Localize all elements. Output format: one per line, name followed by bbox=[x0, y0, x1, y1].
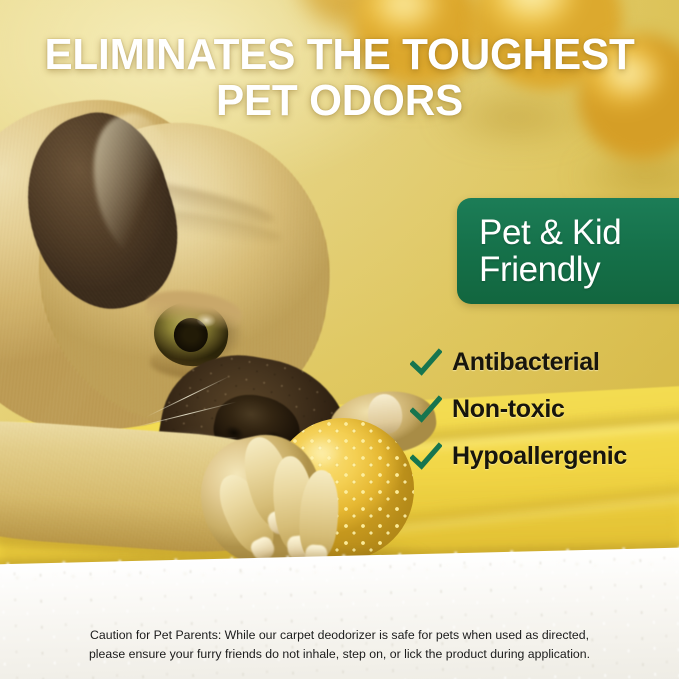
headline: ELIMINATES THE TOUGHEST PET ODORS bbox=[14, 32, 666, 124]
headline-line-1: ELIMINATES THE TOUGHEST bbox=[44, 30, 634, 79]
check-icon bbox=[410, 395, 442, 425]
caption-line-1: Caution for Pet Parents: While our carpe… bbox=[18, 626, 661, 645]
product-advertisement-image: ELIMINATES THE TOUGHEST PET ODORS Pet & … bbox=[0, 0, 679, 679]
feature-label: Non-toxic bbox=[452, 395, 565, 424]
feature-list: Antibacterial Non-toxic Hypoallergenic bbox=[410, 339, 674, 480]
check-icon bbox=[410, 348, 442, 378]
caution-caption: Caution for Pet Parents: While our carpe… bbox=[0, 626, 679, 663]
pet-and-kid-friendly-badge: Pet & Kid Friendly bbox=[457, 198, 679, 304]
badge-line-1: Pet & Kid bbox=[479, 213, 621, 252]
caption-line-2: please ensure your furry friends do not … bbox=[18, 645, 661, 664]
feature-label: Antibacterial bbox=[452, 348, 600, 377]
feature-item-antibacterial: Antibacterial bbox=[410, 339, 674, 386]
headline-line-2: PET ODORS bbox=[37, 78, 643, 124]
badge-line-2: Friendly bbox=[479, 251, 621, 288]
feature-item-hypoallergenic: Hypoallergenic bbox=[410, 433, 674, 480]
feature-label: Hypoallergenic bbox=[452, 442, 627, 471]
badge-text: Pet & Kid Friendly bbox=[479, 214, 621, 288]
feature-item-non-toxic: Non-toxic bbox=[410, 386, 674, 433]
check-icon bbox=[410, 442, 442, 472]
